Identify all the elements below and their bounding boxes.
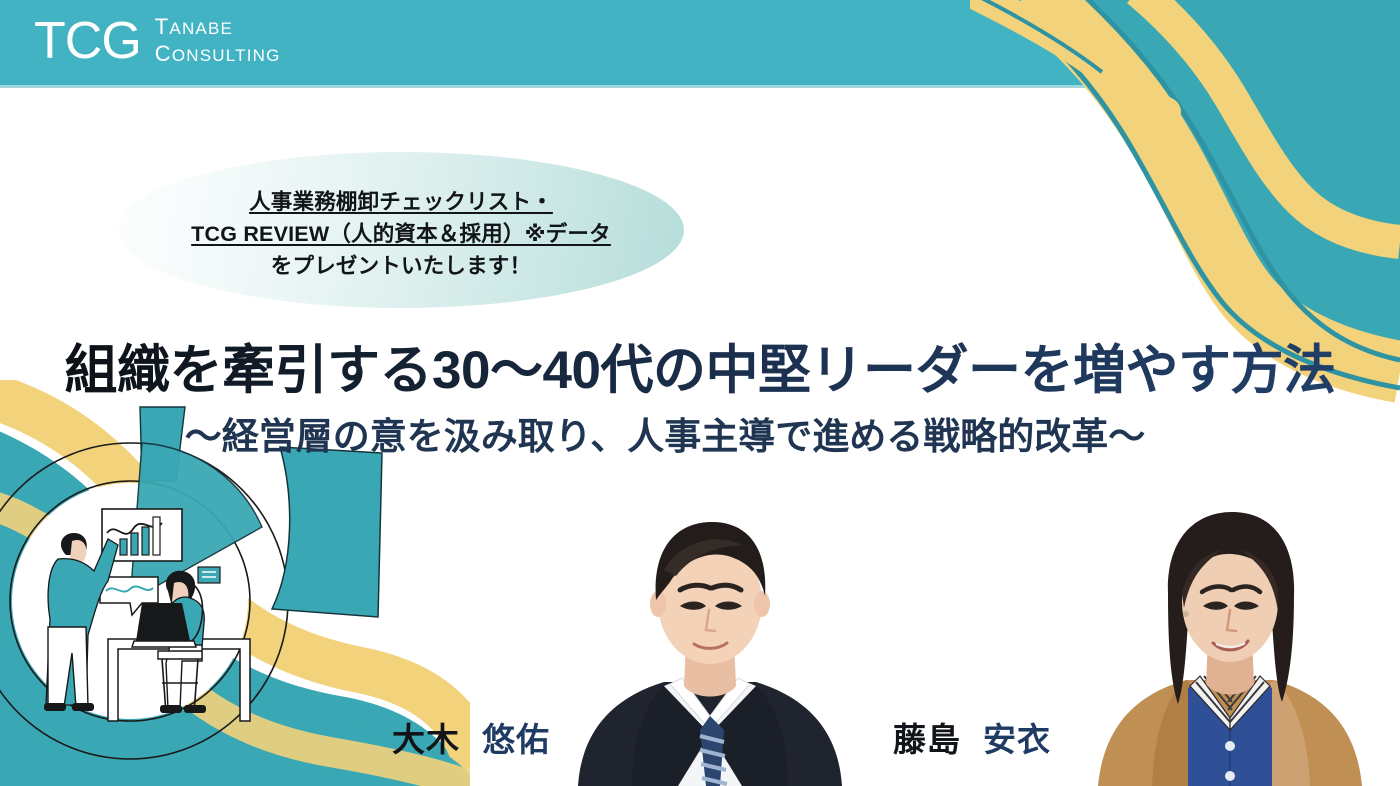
speaker-given-name: 安衣	[983, 721, 1051, 758]
logo-wordmark: TANABE CONSULTING	[155, 14, 281, 68]
speaker-photo-right	[1080, 490, 1380, 786]
speaker-name-right: 藤島安衣	[893, 713, 1051, 761]
logo-line-tanabe: TANABE	[155, 14, 281, 41]
callout-line-2: TCG REVIEW（人的資本＆採用）※データ	[118, 218, 684, 250]
speaker-family-name: 大木	[392, 721, 460, 758]
logo-line-consulting: CONSULTING	[155, 41, 281, 68]
tcg-logo: TCG TANABE CONSULTING	[34, 14, 281, 68]
speaker-family-name: 藤島	[893, 721, 961, 758]
logo-mark: TCG	[34, 14, 155, 68]
header-underline	[0, 85, 1400, 88]
speaker-photo-left	[560, 490, 860, 786]
seminar-title: 組織を牽引する30〜40代の中堅リーダーを増やす方法	[0, 338, 1400, 404]
presentation-slide: TCG TANABE CONSULTING 人事業務棚卸チェックリスト・ TCG…	[0, 0, 1400, 786]
speaker-name-left: 大木悠佑	[392, 713, 550, 761]
callout-line-1: 人事業務棚卸チェックリスト・	[118, 186, 684, 218]
callout-line-3: をプレゼントいたします！	[118, 250, 684, 282]
speaker-given-name: 悠佑	[482, 721, 550, 758]
seminar-subtitle: 〜経営層の意を汲み取り、人事主導で進める戦略的改革〜	[0, 412, 1400, 462]
callout-text: 人事業務棚卸チェックリスト・ TCG REVIEW（人的資本＆採用）※データ を…	[118, 186, 684, 282]
